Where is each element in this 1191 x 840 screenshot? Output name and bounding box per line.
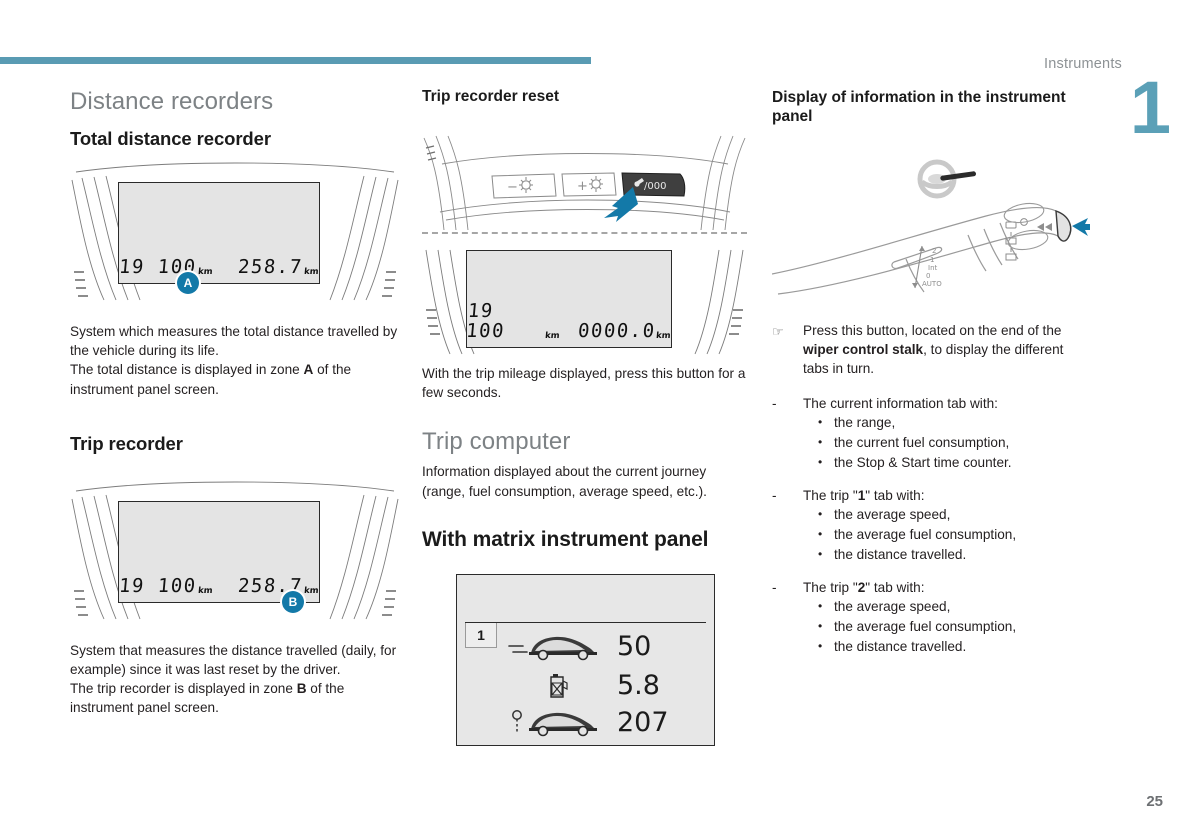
list-item: the average speed, bbox=[818, 597, 1090, 617]
caption-reset-instruction: With the trip mileage displayed, press t… bbox=[422, 364, 747, 402]
bullet-list-3: the average speed, the average fuel cons… bbox=[772, 597, 1090, 657]
figure-wiper-control-stalk: 2 1 Int 0 AUTO bbox=[772, 158, 1090, 303]
list-item: the current fuel consumption, bbox=[818, 433, 1090, 453]
odometer-unit-2: km bbox=[198, 586, 213, 596]
matrix-value-consumption: 5.8 bbox=[617, 671, 699, 701]
dash-marker-3: - bbox=[772, 578, 803, 597]
matrix-row-consumption: 5.8 bbox=[457, 668, 714, 704]
bullet-list-1: the range, the current fuel consumption,… bbox=[772, 413, 1090, 473]
list-item: the average fuel consumption, bbox=[818, 617, 1090, 637]
list-item: the range, bbox=[818, 413, 1090, 433]
pointer-arrow-icon bbox=[1072, 218, 1090, 236]
bullet-list-2: the average speed, the average fuel cons… bbox=[772, 505, 1090, 565]
group-current-information-tab: - The current information tab with: bbox=[772, 394, 1090, 413]
group-title-1-before: The current information tab with: bbox=[803, 396, 998, 411]
svg-text:+: + bbox=[577, 179, 588, 194]
car-speed-icon bbox=[495, 630, 615, 664]
list-item: the average speed, bbox=[818, 505, 1090, 525]
trip-readout-2: 258.7km bbox=[238, 576, 318, 596]
paragraph-total-distance-1: System which measures the total distance… bbox=[70, 322, 400, 360]
para2-before-text: The total distance is displayed in zone bbox=[70, 362, 304, 377]
odometer-unit-3: km bbox=[545, 331, 560, 341]
stalk-label-auto: AUTO bbox=[922, 280, 942, 288]
dash-marker-1: - bbox=[772, 394, 803, 413]
matrix-row-range: 50 bbox=[457, 629, 714, 665]
lcd-screen-total: 19 100km 258.7km bbox=[118, 182, 320, 284]
stalk-label-int: Int bbox=[928, 264, 938, 272]
column-middle: Trip recorder reset bbox=[422, 88, 747, 746]
page-number: 25 bbox=[1146, 793, 1163, 810]
fuel-can-icon bbox=[495, 669, 615, 703]
stalk-label-0: 0 bbox=[926, 272, 930, 280]
list-item: the Stop & Start time counter. bbox=[818, 453, 1090, 473]
trip-para2-before-text: The trip recorder is displayed in zone bbox=[70, 681, 297, 696]
matrix-value-distance: 207 bbox=[617, 708, 699, 738]
svg-text:−: − bbox=[507, 180, 518, 195]
trip-readout: 258.7km bbox=[238, 257, 318, 277]
odometer-readout-3: 19 100km bbox=[467, 301, 560, 341]
action-text-bold: wiper control stalk bbox=[803, 342, 923, 357]
figure-matrix-instrument-panel: 1 50 bbox=[456, 574, 715, 746]
action-press-button: ☞ Press this button, located on the end … bbox=[772, 321, 1090, 379]
lcd-screen-reset: 19 100km 0000.0km bbox=[466, 250, 672, 348]
heading-trip-recorder-reset: Trip recorder reset bbox=[422, 88, 747, 106]
zone-reference-b: B bbox=[297, 681, 307, 696]
zone-badge-a: A bbox=[177, 272, 199, 294]
trip-readout-3: 0000.0km bbox=[578, 321, 671, 341]
heading-with-matrix-instrument-panel: With matrix instrument panel bbox=[422, 527, 747, 552]
car-distance-icon bbox=[495, 706, 615, 740]
matrix-row-distance: 207 bbox=[457, 705, 714, 741]
paragraph-trip-computer-intro: Information displayed about the current … bbox=[422, 462, 747, 500]
steering-wheel-icon bbox=[920, 162, 976, 196]
list-item: the distance travelled. bbox=[818, 637, 1090, 657]
trip-value: 258.7 bbox=[238, 257, 304, 277]
trip-unit-3: km bbox=[656, 331, 671, 341]
group-title-3: The trip "2" tab with: bbox=[803, 578, 924, 597]
stalk-label-1: 1 bbox=[930, 256, 934, 264]
odometer-value-2: 19 100 bbox=[118, 576, 197, 596]
reset-button-label: /000 bbox=[644, 181, 666, 192]
heading-total-distance-recorder: Total distance recorder bbox=[70, 128, 400, 150]
group-trip-2-tab: - The trip "2" tab with: bbox=[772, 578, 1090, 597]
paragraph-trip-recorder-2: The trip recorder is displayed in zone B… bbox=[70, 679, 400, 717]
group-title-2-after: " tab with: bbox=[865, 488, 924, 503]
zone-reference-a: A bbox=[304, 362, 314, 377]
figure-total-distance-cluster: 19 100km 258.7km A bbox=[70, 160, 400, 308]
odometer-readout-2: 19 100km bbox=[119, 576, 212, 596]
matrix-divider bbox=[465, 622, 706, 623]
trip-unit: km bbox=[304, 267, 319, 277]
column-left: Distance recorders Total distance record… bbox=[70, 88, 400, 718]
group-title-3-after: " tab with: bbox=[865, 580, 924, 595]
section-title-distance-recorders: Distance recorders bbox=[70, 88, 400, 116]
heading-trip-recorder: Trip recorder bbox=[70, 433, 400, 455]
pointing-hand-icon: ☞ bbox=[772, 321, 803, 379]
chapter-number: 1 bbox=[1130, 76, 1171, 140]
trip-unit-2: km bbox=[304, 586, 319, 596]
header-accent-rule bbox=[0, 57, 591, 64]
action-text-before: Press this button, located on the end of… bbox=[803, 323, 1061, 338]
section-title-trip-computer: Trip computer bbox=[422, 428, 747, 456]
matrix-value-range: 50 bbox=[617, 632, 699, 662]
group-title-3-before: The trip " bbox=[803, 580, 858, 595]
paragraph-total-distance-2: The total distance is displayed in zone … bbox=[70, 360, 400, 398]
dashboard-buttons-drawing: − + bbox=[422, 134, 747, 234]
odometer-readout: 19 100km bbox=[119, 257, 212, 277]
double-arrow-icon bbox=[1037, 223, 1052, 231]
group-title-1: The current information tab with: bbox=[803, 394, 998, 413]
odometer-unit: km bbox=[198, 267, 213, 277]
odometer-value-3: 19 100 bbox=[465, 301, 546, 341]
action-press-button-text: Press this button, located on the end of… bbox=[803, 321, 1090, 379]
group-title-2: The trip "1" tab with: bbox=[803, 486, 924, 505]
group-title-2-before: The trip " bbox=[803, 488, 858, 503]
zone-badge-b: B bbox=[282, 591, 304, 613]
figure-trip-recorder-cluster: 19 100km 258.7km B bbox=[70, 479, 400, 627]
figure-reset-buttons: − + bbox=[422, 134, 747, 234]
wiper-stalk-drawing: 2 1 Int 0 AUTO bbox=[772, 158, 1090, 298]
figure-reset-cluster: 19 100km 0000.0km bbox=[422, 248, 747, 358]
dash-marker-2: - bbox=[772, 486, 803, 505]
group-trip-1-tab: - The trip "1" tab with: bbox=[772, 486, 1090, 505]
trip-value-reset: 0000.0 bbox=[577, 321, 656, 341]
heading-display-of-information: Display of information in the instrument… bbox=[772, 88, 1090, 126]
page-header-title: Instruments bbox=[1044, 56, 1122, 72]
lcd-screen-trip: 19 100km 258.7km bbox=[118, 501, 320, 603]
paragraph-trip-recorder-1: System that measures the distance travel… bbox=[70, 641, 400, 679]
figure-separator bbox=[422, 232, 747, 234]
column-right: Display of information in the instrument… bbox=[772, 88, 1090, 657]
list-item: the average fuel consumption, bbox=[818, 525, 1090, 545]
stalk-label-2: 2 bbox=[932, 247, 936, 255]
list-item: the distance travelled. bbox=[818, 545, 1090, 565]
